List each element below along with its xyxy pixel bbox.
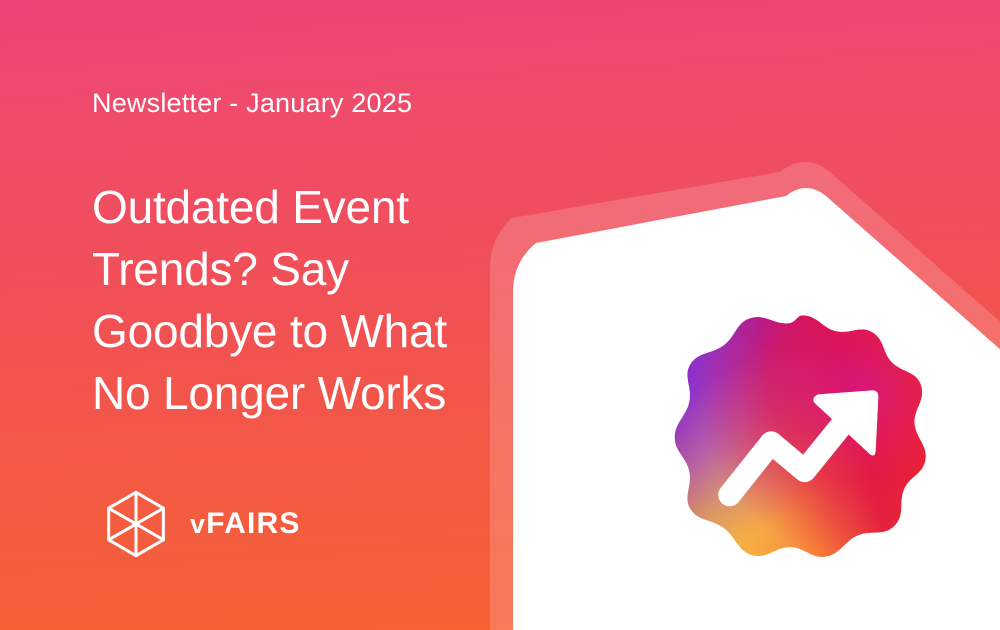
badge-graphic [668,310,936,578]
content-column: Newsletter - January 2025 Outdated Event… [92,0,522,630]
vfairs-logo: vFAIRS [100,488,301,560]
page-title: Outdated Event Trends? Say Goodbye to Wh… [92,176,492,424]
headline-line: No Longer Works [92,362,492,424]
badge-body [668,310,936,578]
headline-line: Trends? Say [92,238,492,300]
hexagon-cube-icon [100,488,172,560]
brand-wordmark-suffix: FAIRS [206,507,300,540]
newsletter-eyebrow: Newsletter - January 2025 [92,88,412,119]
brand-wordmark-prefix: v [190,509,206,539]
trend-badge [668,310,936,578]
headline-line: Goodbye to What [92,300,492,362]
headline-line: Outdated Event [92,176,492,238]
brand-wordmark: vFAIRS [190,509,301,539]
newsletter-banner: Newsletter - January 2025 Outdated Event… [0,0,1000,630]
